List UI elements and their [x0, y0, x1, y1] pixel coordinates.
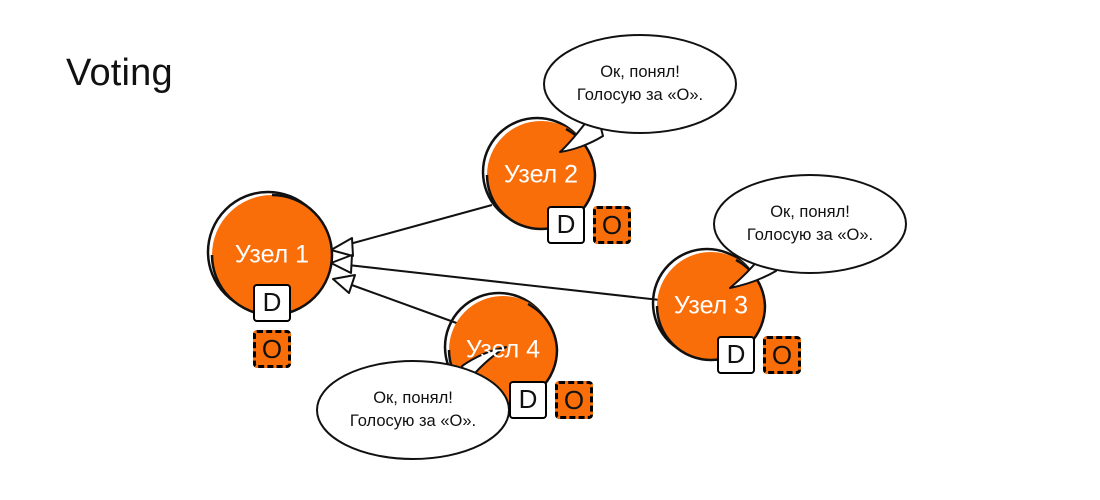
chip-node1-d[interactable]: D [253, 284, 291, 322]
chip-node2-d[interactable]: D [547, 206, 585, 244]
chip-node4-o[interactable]: O [555, 381, 593, 419]
chip-node2-o[interactable]: O [593, 206, 631, 244]
page-title: Voting [66, 52, 173, 95]
chip-node3-o[interactable]: O [763, 336, 801, 374]
speech-bubble-node4 [317, 347, 509, 459]
arrow-node2-to-node1 [331, 205, 492, 256]
chip-node4-d[interactable]: D [509, 381, 547, 419]
arrow-node4-to-node1 [333, 275, 462, 325]
chip-node1-o[interactable]: O [253, 330, 291, 368]
chip-node3-d[interactable]: D [717, 336, 755, 374]
slide-canvas: Voting Узел 1 Узел 2 Узел 3 Узел 4 D O D… [0, 0, 1100, 500]
